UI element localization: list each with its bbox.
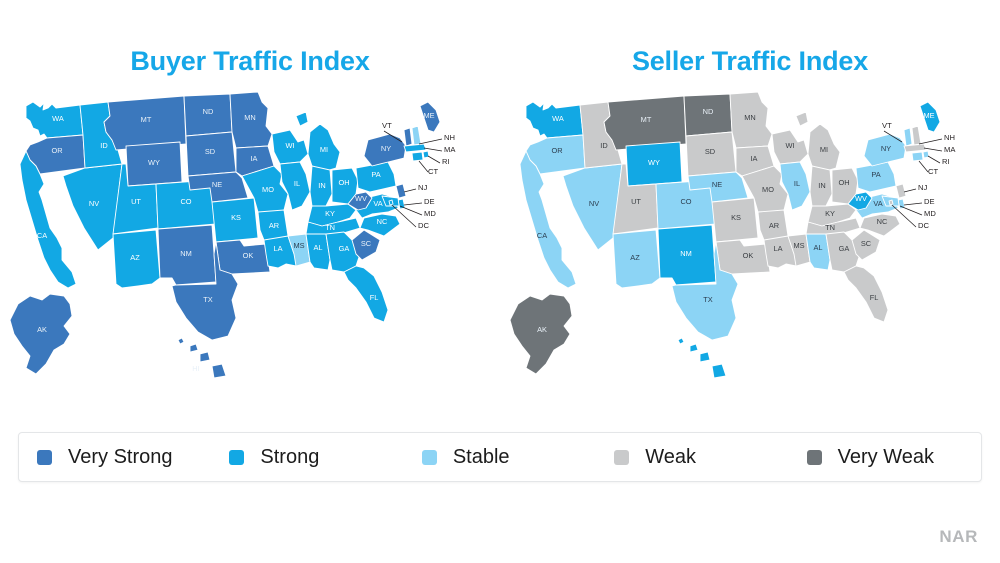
state-abbr-ct: CT xyxy=(928,167,938,176)
state-pa[interactable] xyxy=(356,162,396,192)
state-vt[interactable] xyxy=(904,128,912,146)
state-in[interactable] xyxy=(310,166,332,206)
state-ri[interactable] xyxy=(923,151,929,158)
state-in[interactable] xyxy=(810,166,832,206)
map-seller-svg: WAORCANVIDMTWYUTAZCONMNDSDNEKSOKTXMNIAMO… xyxy=(500,88,1000,423)
state-nm[interactable] xyxy=(158,225,216,285)
state-abbr-de: DE xyxy=(924,197,935,206)
page-title-buyer: Buyer Traffic Index xyxy=(0,48,500,75)
callout-leader-de xyxy=(904,203,922,205)
state-wa[interactable] xyxy=(26,102,83,138)
state-mn[interactable] xyxy=(230,92,272,148)
state-abbr-nj: NJ xyxy=(918,183,927,192)
state-ak[interactable] xyxy=(510,294,572,374)
state-ok[interactable] xyxy=(716,240,770,274)
legend-item-very-strong: Very Strong xyxy=(19,446,211,469)
state-hi[interactable] xyxy=(178,338,226,378)
panel-seller: Seller Traffic Index WAORCANVIDMTWYUTAZC… xyxy=(500,0,1000,430)
legend-swatch-strong xyxy=(229,450,244,465)
panel-buyer: Buyer Traffic Index WAORCANVIDMTWYUTAZCO… xyxy=(0,0,500,430)
state-hi[interactable] xyxy=(678,338,726,378)
state-me[interactable] xyxy=(420,102,440,132)
state-wy[interactable] xyxy=(126,142,182,186)
state-ks[interactable] xyxy=(712,198,758,242)
legend-item-strong: Strong xyxy=(211,446,403,469)
legend-item-stable: Stable xyxy=(404,446,596,469)
state-abbr-ma: MA xyxy=(944,145,956,154)
state-abbr-ri: RI xyxy=(942,157,950,166)
state-abbr-vt: VT xyxy=(882,121,892,130)
state-shapes-seller xyxy=(510,92,940,378)
callout-leader-ma xyxy=(424,148,442,151)
state-abbr-hi: HI xyxy=(692,364,699,373)
state-fl[interactable] xyxy=(344,266,388,322)
state-nj[interactable] xyxy=(396,184,406,198)
callout-leader-nj xyxy=(404,189,416,192)
state-ok[interactable] xyxy=(216,240,270,274)
state-nh[interactable] xyxy=(412,126,421,145)
state-abbr-vt: VT xyxy=(382,121,392,130)
legend-label: Very Strong xyxy=(68,446,173,469)
state-az[interactable] xyxy=(113,230,160,288)
state-nm[interactable] xyxy=(658,225,716,285)
state-wi[interactable] xyxy=(272,130,308,164)
state-nd[interactable] xyxy=(184,94,232,136)
state-abbr-ma: MA xyxy=(444,145,456,154)
state-abbr-dc: DC xyxy=(418,221,429,230)
legend-swatch-very-strong xyxy=(37,450,52,465)
state-az[interactable] xyxy=(613,230,660,288)
callout-leader-md xyxy=(400,206,422,215)
callout-leader-ct xyxy=(419,161,428,172)
state-nh[interactable] xyxy=(912,126,921,145)
page-title-seller: Seller Traffic Index xyxy=(500,48,1000,75)
state-pa[interactable] xyxy=(856,162,896,192)
state-ct[interactable] xyxy=(412,152,423,161)
callout-leader-de xyxy=(404,203,422,205)
legend-swatch-very-weak xyxy=(807,450,822,465)
traffic-index-infographic: Buyer Traffic Index WAORCANVIDMTWYUTAZCO… xyxy=(0,0,1000,563)
nar-watermark: NAR xyxy=(939,527,978,547)
state-abbr-nj: NJ xyxy=(418,183,427,192)
legend-label: Stable xyxy=(453,446,510,469)
state-shapes-buyer xyxy=(10,92,440,378)
state-sd[interactable] xyxy=(686,132,736,176)
state-abbr-hi: HI xyxy=(192,364,199,373)
maps-row: Buyer Traffic Index WAORCANVIDMTWYUTAZCO… xyxy=(0,0,1000,430)
state-abbr-dc: DC xyxy=(918,221,929,230)
state-ks[interactable] xyxy=(212,198,258,242)
state-abbr-md: MD xyxy=(424,209,436,218)
callout-leader-ri xyxy=(928,156,940,163)
callout-leader-md xyxy=(900,206,922,215)
state-nd[interactable] xyxy=(684,94,732,136)
state-wy[interactable] xyxy=(626,142,682,186)
state-ny[interactable] xyxy=(864,134,906,166)
state-wa[interactable] xyxy=(526,102,583,138)
legend-label: Very Weak xyxy=(838,446,934,469)
state-mt[interactable] xyxy=(604,96,686,150)
map-buyer: WAORCANVIDMTWYUTAZCONMNDSDNEKSOKTXMNIAMO… xyxy=(0,88,500,423)
legend-item-very-weak: Very Weak xyxy=(789,446,981,469)
legend-label: Weak xyxy=(645,446,696,469)
legend: Very StrongStrongStableWeakVery Weak xyxy=(18,432,982,482)
callout-leader-ct xyxy=(919,161,928,172)
state-abbr-md: MD xyxy=(924,209,936,218)
callout-leader-ma xyxy=(924,148,942,151)
map-buyer-svg: WAORCANVIDMTWYUTAZCONMNDSDNEKSOKTXMNIAMO… xyxy=(0,88,500,423)
callout-leader-nh xyxy=(419,139,442,144)
map-seller: WAORCANVIDMTWYUTAZCONMNDSDNEKSOKTXMNIAMO… xyxy=(500,88,1000,423)
legend-swatch-stable xyxy=(422,450,437,465)
state-ny[interactable] xyxy=(364,134,406,166)
callout-leader-nh xyxy=(919,139,942,144)
callout-leader-nj xyxy=(904,189,916,192)
state-mn[interactable] xyxy=(730,92,772,148)
state-fl[interactable] xyxy=(844,266,888,322)
state-abbr-de: DE xyxy=(424,197,435,206)
state-sd[interactable] xyxy=(186,132,236,176)
state-vt[interactable] xyxy=(404,128,412,146)
legend-item-weak: Weak xyxy=(596,446,788,469)
state-dc[interactable] xyxy=(389,200,393,205)
state-abbr-nh: NH xyxy=(944,133,955,142)
legend-label: Strong xyxy=(260,446,319,469)
state-dc[interactable] xyxy=(889,200,893,205)
state-ri[interactable] xyxy=(423,151,429,158)
state-ct[interactable] xyxy=(912,152,923,161)
state-nj[interactable] xyxy=(896,184,906,198)
state-wi[interactable] xyxy=(772,130,808,164)
state-abbr-ri: RI xyxy=(442,157,450,166)
state-me[interactable] xyxy=(920,102,940,132)
legend-swatch-weak xyxy=(614,450,629,465)
callout-leader-ri xyxy=(428,156,440,163)
state-mt[interactable] xyxy=(104,96,186,150)
state-ak[interactable] xyxy=(10,294,72,374)
state-abbr-nh: NH xyxy=(444,133,455,142)
state-abbr-ct: CT xyxy=(428,167,438,176)
